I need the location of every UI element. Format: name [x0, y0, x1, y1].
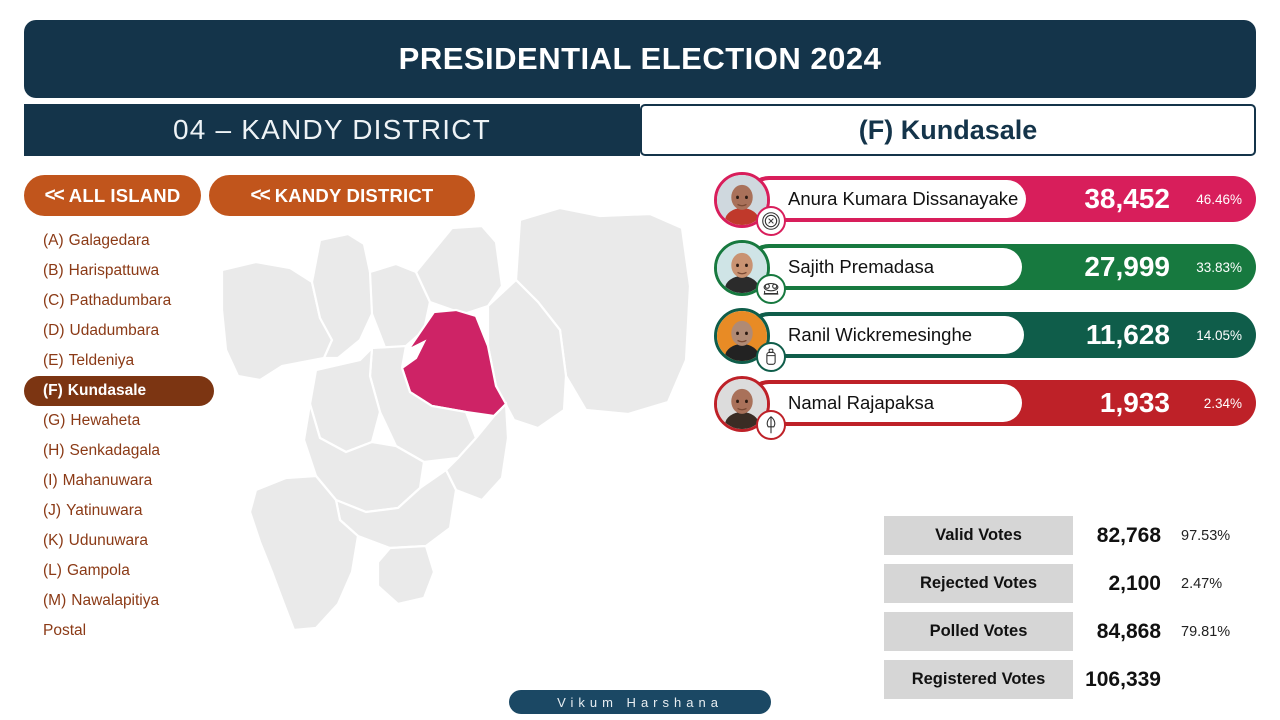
candidate-row[interactable]: 38,45246.46%Anura Kumara Dissanayake [714, 176, 1256, 228]
candidate-row[interactable]: 1,9332.34%Namal Rajapaksa [714, 380, 1256, 432]
candidate-name-pill: Sajith Premadasa [750, 248, 1022, 286]
division-item-senkadagala[interactable]: (H)Senkadagala [24, 436, 224, 466]
division-name: Kundasale [68, 382, 146, 400]
division-letter: (J) [43, 502, 61, 520]
division-letter: (L) [43, 562, 62, 580]
division-item-teldeniya[interactable]: (E)Teldeniya [24, 346, 224, 376]
division-name: Pathadumbara [70, 292, 172, 310]
division-item-udunuwara[interactable]: (K)Udunuwara [24, 526, 224, 556]
district-box[interactable]: 04 – KANDY DISTRICT [24, 104, 640, 156]
stat-label: Valid Votes [884, 516, 1073, 555]
candidate-votes: 1,933 [1100, 387, 1170, 419]
district-label: 04 – KANDY DISTRICT [173, 114, 491, 146]
all-island-button[interactable]: << ALL ISLAND [24, 175, 201, 216]
candidate-name: Ranil Wickremesinghe [788, 324, 972, 346]
district-division-bar: 04 – KANDY DISTRICT (F) Kundasale [24, 104, 1256, 156]
stat-value: 2,100 [1073, 572, 1171, 596]
candidate-votes: 38,452 [1084, 183, 1170, 215]
division-item-kundasale[interactable]: (F)Kundasale [24, 376, 214, 406]
candidate-row[interactable]: 27,99933.83%Sajith Premadasa [714, 244, 1256, 296]
division-item-nawalapitiya[interactable]: (M)Nawalapitiya [24, 586, 224, 616]
candidate-percent: 14.05% [1196, 328, 1242, 343]
division-letter: (I) [43, 472, 58, 490]
division-name: Galagedara [69, 232, 150, 250]
page-title: PRESIDENTIAL ELECTION 2024 [399, 41, 882, 77]
division-item-gampola[interactable]: (L)Gampola [24, 556, 224, 586]
stat-row: Valid Votes82,76897.53% [884, 516, 1256, 555]
vote-statistics-table: Valid Votes82,76897.53%Rejected Votes2,1… [884, 516, 1256, 708]
division-name: Yatinuwara [66, 502, 142, 520]
division-box[interactable]: (F) Kundasale [640, 104, 1256, 156]
kandy-district-map[interactable] [220, 190, 720, 670]
division-letter: (A) [43, 232, 64, 250]
division-letter: (B) [43, 262, 64, 280]
stat-label: Rejected Votes [884, 564, 1073, 603]
division-letter: (F) [43, 382, 63, 400]
division-name: Teldeniya [69, 352, 135, 370]
stat-value: 82,768 [1073, 524, 1171, 548]
candidate-name: Namal Rajapaksa [788, 392, 934, 414]
stat-value: 106,339 [1073, 668, 1171, 692]
division-name: Gampola [67, 562, 130, 580]
chevron-left-icon: << [45, 185, 63, 207]
division-name: Udunuwara [69, 532, 148, 550]
division-letter: (M) [43, 592, 66, 610]
division-name: Udadumbara [70, 322, 160, 340]
division-item-hewaheta[interactable]: (G)Hewaheta [24, 406, 224, 436]
division-item-galagedara[interactable]: (A)Galagedara [24, 226, 224, 256]
division-letter: (H) [43, 442, 65, 460]
candidate-votes: 27,999 [1084, 251, 1170, 283]
watermark-text: Vikum Harshana [557, 695, 723, 710]
division-name: Mahanuwara [63, 472, 153, 490]
stat-label: Registered Votes [884, 660, 1073, 699]
division-name: Senkadagala [70, 442, 161, 460]
division-name: Nawalapitiya [71, 592, 159, 610]
stat-row: Registered Votes106,339 [884, 660, 1256, 699]
division-item-harispattuwa[interactable]: (B)Harispattuwa [24, 256, 224, 286]
division-letter: (C) [43, 292, 65, 310]
stat-percent: 79.81% [1171, 624, 1249, 640]
candidate-votes: 11,628 [1086, 319, 1170, 351]
candidate-name-pill: Ranil Wickremesinghe [750, 316, 1024, 354]
telephone-icon [756, 274, 786, 304]
candidate-name-pill: Namal Rajapaksa [750, 384, 1022, 422]
stat-percent: 2.47% [1171, 576, 1249, 592]
division-item-postal[interactable]: Postal [24, 616, 224, 646]
division-item-mahanuwara[interactable]: (I)Mahanuwara [24, 466, 224, 496]
division-letter: (E) [43, 352, 64, 370]
division-letter: (K) [43, 532, 64, 550]
division-name: Harispattuwa [69, 262, 159, 280]
stat-row: Rejected Votes2,1002.47% [884, 564, 1256, 603]
division-list: (A)Galagedara(B)Harispattuwa(C)Pathadumb… [24, 226, 224, 646]
candidate-percent: 2.34% [1204, 396, 1242, 411]
all-island-label: ALL ISLAND [69, 185, 181, 207]
division-name: Hewaheta [70, 412, 140, 430]
gas-cylinder-icon [756, 342, 786, 372]
candidate-name: Anura Kumara Dissanayake [788, 188, 1018, 210]
stat-row: Polled Votes84,86879.81% [884, 612, 1256, 651]
division-name: Postal [43, 622, 86, 640]
candidate-results-list: 38,45246.46%Anura Kumara Dissanayake27,9… [714, 176, 1256, 448]
compass-icon [756, 206, 786, 236]
candidate-percent: 46.46% [1196, 192, 1242, 207]
candidate-name-pill: Anura Kumara Dissanayake [750, 180, 1026, 218]
stat-value: 84,868 [1073, 620, 1171, 644]
division-label: (F) Kundasale [859, 115, 1038, 146]
candidate-percent: 33.83% [1196, 260, 1242, 275]
candidate-row[interactable]: 11,62814.05%Ranil Wickremesinghe [714, 312, 1256, 364]
division-item-udadumbara[interactable]: (D)Udadumbara [24, 316, 224, 346]
division-letter: (G) [43, 412, 65, 430]
candidate-name: Sajith Premadasa [788, 256, 934, 278]
division-item-yatinuwara[interactable]: (J)Yatinuwara [24, 496, 224, 526]
flower-bud-icon [756, 410, 786, 440]
division-letter: (D) [43, 322, 65, 340]
watermark: Vikum Harshana [509, 690, 771, 714]
page-title-banner: PRESIDENTIAL ELECTION 2024 [24, 20, 1256, 98]
stat-percent: 97.53% [1171, 528, 1249, 544]
division-item-pathadumbara[interactable]: (C)Pathadumbara [24, 286, 224, 316]
election-dashboard: PRESIDENTIAL ELECTION 2024 04 – KANDY DI… [0, 0, 1280, 720]
stat-label: Polled Votes [884, 612, 1073, 651]
